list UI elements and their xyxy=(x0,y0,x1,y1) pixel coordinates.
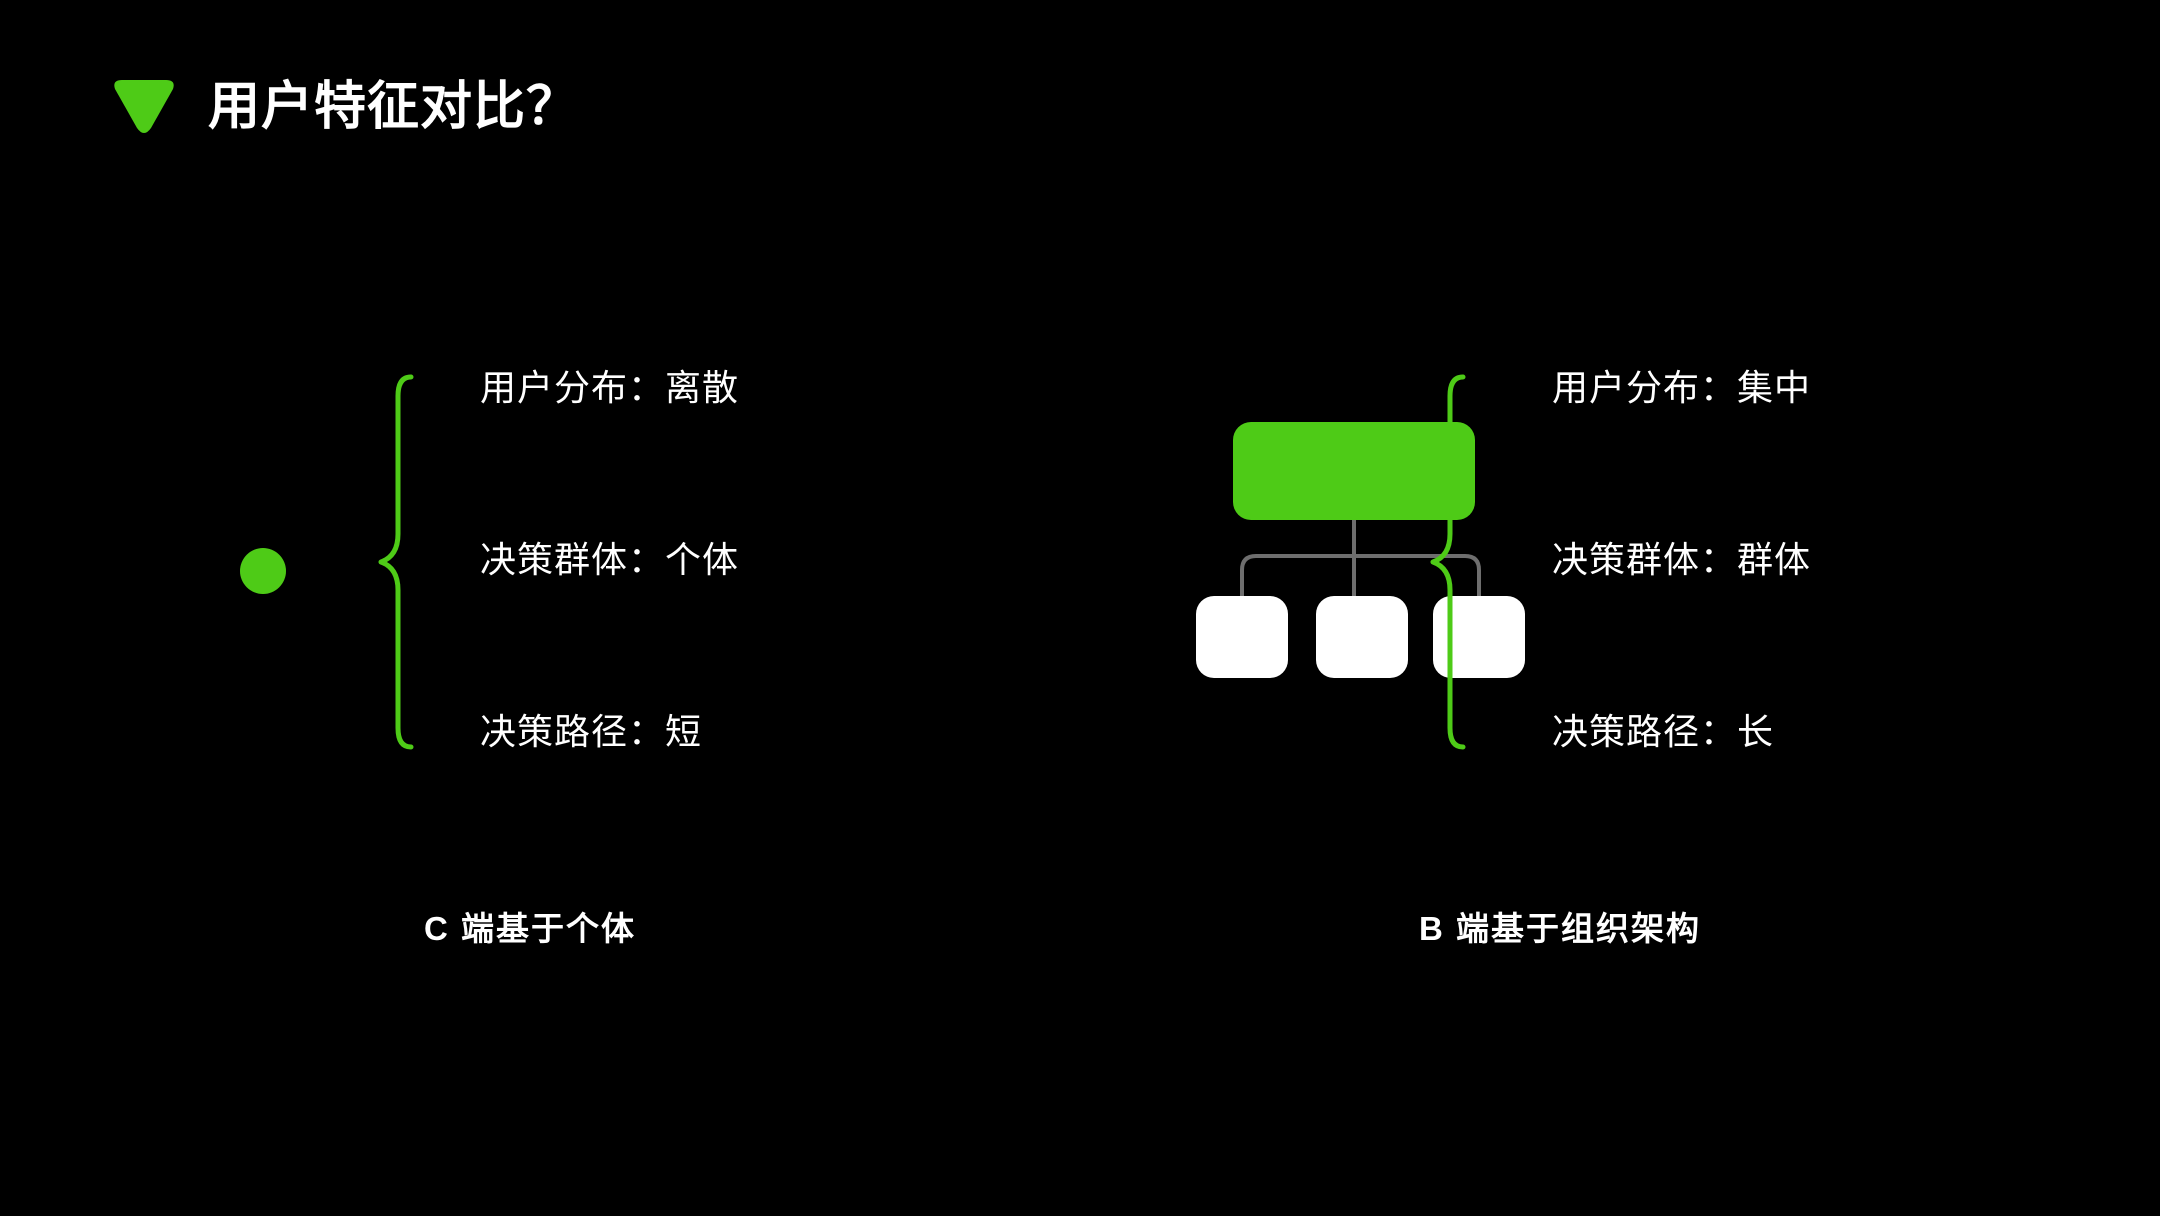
brace-right-icon xyxy=(1430,374,1466,750)
spec-item: 决策路径：长 xyxy=(1552,714,1811,750)
individual-dot-icon xyxy=(240,548,286,594)
brace-left-icon xyxy=(378,374,414,750)
page-title: 用户特征对比？ xyxy=(208,81,579,133)
spec-item: 决策路径：短 xyxy=(480,714,739,750)
org-leaf-node xyxy=(1196,596,1288,678)
panel-c-side: 用户分布：离散 决策群体：个体 决策路径：短 xyxy=(140,330,940,890)
slide-canvas: 用户特征对比？ 用户分布：离散 决策群体：个体 决策路径：短 xyxy=(0,0,2160,1216)
page-title-row: 用户特征对比？ xyxy=(110,78,579,136)
panel-b-side: 用户分布：集中 决策群体：群体 决策路径：长 xyxy=(1140,330,2020,890)
c-side-spec-list: 用户分布：离散 决策群体：个体 决策路径：短 xyxy=(480,370,739,750)
spec-item: 用户分布：离散 xyxy=(480,370,739,406)
b-side-spec-list: 用户分布：集中 决策群体：群体 决策路径：长 xyxy=(1552,370,1811,750)
spec-item: 决策群体：群体 xyxy=(1552,542,1811,578)
spec-item: 用户分布：集中 xyxy=(1552,370,1811,406)
caption-c-side: C 端基于个体 xyxy=(270,902,790,950)
caption-b-side: B 端基于组织架构 xyxy=(1300,902,1820,950)
c-side-visual xyxy=(140,330,470,760)
org-leaf-node xyxy=(1316,596,1408,678)
org-chart-diagram xyxy=(1178,410,1518,690)
b-side-visual xyxy=(1140,330,1540,760)
spec-item: 决策群体：个体 xyxy=(480,542,739,578)
down-triangle-bullet-icon xyxy=(110,78,178,136)
